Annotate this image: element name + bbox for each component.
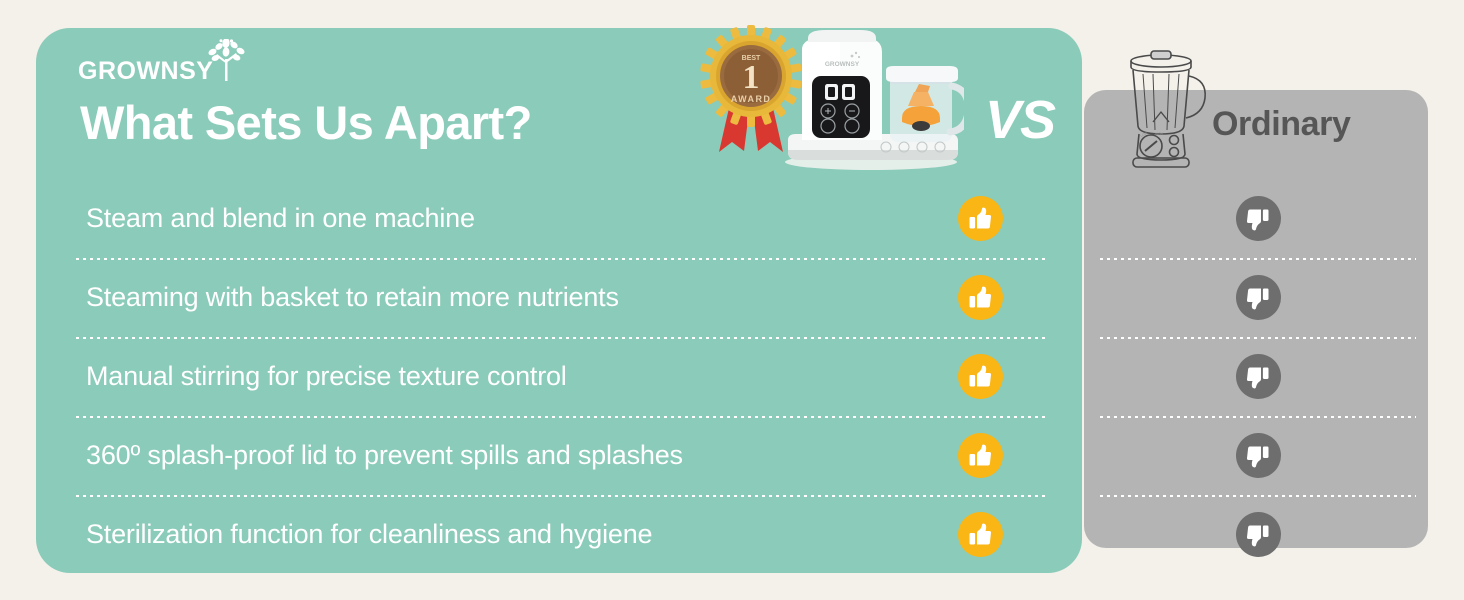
ordinary-title: Ordinary (1212, 107, 1351, 141)
thumbs-up-icon (958, 433, 1003, 478)
row-divider (1100, 258, 1416, 260)
verdict-cell (1100, 179, 1416, 258)
row-divider (76, 495, 1048, 497)
thumbs-up-icon (958, 275, 1003, 320)
page-title: What Sets Us Apart? (80, 97, 532, 149)
svg-text:HIGH: HIGH (1155, 132, 1164, 136)
feature-row: Steaming with basket to retain more nutr… (76, 258, 1048, 337)
comparison-infographic: GROWNSY (0, 0, 1464, 600)
feature-label: Steaming with basket to retain more nutr… (76, 281, 619, 313)
grownsy-verdict-column (950, 179, 1010, 574)
verdict-cell (950, 495, 1010, 574)
feature-label: Manual stirring for precise texture cont… (76, 360, 567, 392)
row-divider (76, 416, 1048, 418)
vs-label: VS (985, 93, 1055, 147)
thumbs-up-icon (958, 354, 1003, 399)
verdict-cell (950, 258, 1010, 337)
row-divider (76, 258, 1048, 260)
thumbs-down-icon (1236, 512, 1281, 557)
baby-food-maker-icon: GROWNSY (778, 22, 964, 172)
verdict-cell (1100, 416, 1416, 495)
thumbs-down-icon (1236, 433, 1281, 478)
row-divider (1100, 416, 1416, 418)
thumbs-down-icon (1236, 275, 1281, 320)
blender-outline-icon: LOW HIGH (1117, 48, 1217, 173)
verdict-cell (950, 179, 1010, 258)
verdict-cell (1100, 337, 1416, 416)
row-divider (76, 337, 1048, 339)
row-divider (1100, 337, 1416, 339)
award-rank: 1 (743, 59, 760, 96)
feature-row: 360º splash-proof lid to prevent spills … (76, 416, 1048, 495)
product-brand-text: GROWNSY (825, 61, 860, 68)
thumbs-down-icon (1236, 196, 1281, 241)
brand-wordmark: GROWNSY (78, 59, 213, 84)
row-divider (1100, 495, 1416, 497)
award-label: AWARD (731, 94, 772, 104)
feature-label: Steam and blend in one machine (76, 202, 475, 234)
feature-row: Manual stirring for precise texture cont… (76, 337, 1048, 416)
feature-label: 360º splash-proof lid to prevent spills … (76, 439, 683, 471)
feature-list: Steam and blend in one machine Steaming … (76, 179, 1048, 574)
thumbs-up-icon (958, 512, 1003, 557)
thumbs-down-icon (1236, 354, 1281, 399)
verdict-cell (1100, 258, 1416, 337)
feature-row: Sterilization function for cleanliness a… (76, 495, 1048, 574)
verdict-cell (950, 337, 1010, 416)
feature-label: Sterilization function for cleanliness a… (76, 518, 652, 550)
thumbs-up-icon (958, 196, 1003, 241)
feature-row: Steam and blend in one machine (76, 179, 1048, 258)
verdict-cell (1100, 495, 1416, 574)
tree-icon (204, 39, 248, 86)
brand-logo: GROWNSY (78, 44, 248, 84)
verdict-cell (950, 416, 1010, 495)
ordinary-verdict-column (1100, 179, 1416, 574)
